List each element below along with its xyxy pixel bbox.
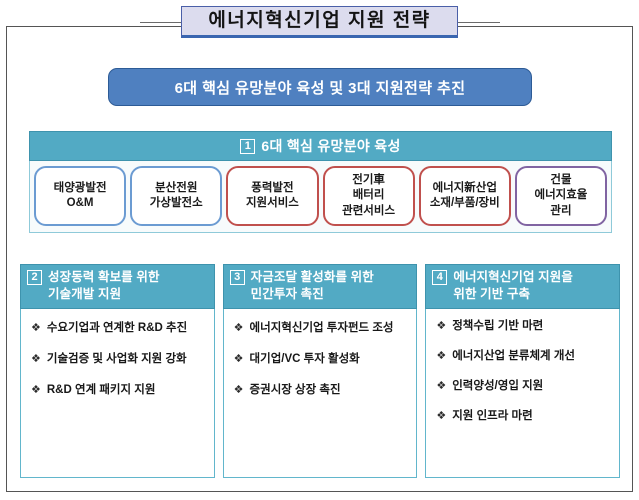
strategy3-number: 3: [230, 270, 245, 285]
field-line: 전기車: [352, 173, 385, 188]
field-line: 태양광발전: [54, 181, 107, 196]
field-card[interactable]: 에너지新산업 소재/부품/장비: [419, 166, 511, 226]
list-item[interactable]: ❖ 지원 인프라 마련: [436, 409, 611, 424]
field-line: O&M: [67, 196, 94, 211]
field-card[interactable]: 풍력발전 지원서비스: [226, 166, 318, 226]
strategy-column-2: 2 성장동력 확보를 위한기술개발 지원 ❖ 수요기업과 연계한 R&D 추진 …: [20, 264, 215, 478]
diamond-bullet-icon: ❖: [234, 384, 244, 397]
strategy4-body: ❖ 정책수립 기반 마련 ❖ 에너지산업 분류체계 개선 ❖ 인력양성/영입 지…: [425, 309, 620, 478]
list-item[interactable]: ❖ 에너지혁신기업 투자펀드 조성: [234, 321, 409, 336]
strategy4-number: 4: [432, 270, 447, 285]
field-line: 가상발전소: [150, 196, 203, 211]
diamond-bullet-icon: ❖: [436, 320, 446, 333]
field-card[interactable]: 전기車 배터리 관련서비스: [323, 166, 415, 226]
strategy3-heading: 자금조달 활성화를 위한민간투자 촉진: [251, 269, 374, 304]
list-item-label: R&D 연계 패키지 지원: [47, 383, 156, 398]
strategy2-heading: 성장동력 확보를 위한기술개발 지원: [48, 269, 160, 304]
infographic-page: 에너지혁신기업 지원 전략 6대 핵심 유망분야 육성 및 3대 지원전략 추진…: [0, 0, 639, 500]
section1-number: 1: [240, 139, 255, 154]
list-item-label: 정책수립 기반 마련: [452, 319, 543, 334]
list-item[interactable]: ❖ 정책수립 기반 마련: [436, 319, 611, 334]
section1-heading: 6대 핵심 유망분야 육성: [261, 136, 400, 156]
diamond-bullet-icon: ❖: [31, 322, 41, 335]
diamond-bullet-icon: ❖: [436, 380, 446, 393]
list-item-label: 대기업/VC 투자 활성화: [250, 352, 360, 367]
strategy-columns: 2 성장동력 확보를 위한기술개발 지원 ❖ 수요기업과 연계한 R&D 추진 …: [20, 264, 620, 478]
page-title: 에너지혁신기업 지원 전략: [208, 10, 430, 32]
strategy3-body: ❖ 에너지혁신기업 투자펀드 조성 ❖ 대기업/VC 투자 활성화 ❖ 증권시장…: [223, 309, 418, 478]
strategy3-header: 3 자금조달 활성화를 위한민간투자 촉진: [223, 264, 418, 309]
list-item-label: 지원 인프라 마련: [452, 409, 532, 424]
strategy2-body: ❖ 수요기업과 연계한 R&D 추진 ❖ 기술검증 및 사업화 지원 강화 ❖ …: [20, 309, 215, 478]
list-item-label: 수요기업과 연계한 R&D 추진: [47, 321, 187, 336]
strategy2-heading-line1: 성장동력 확보를 위한: [48, 270, 160, 284]
field-line: 에너지新산업: [433, 181, 497, 196]
diamond-bullet-icon: ❖: [31, 384, 41, 397]
list-item[interactable]: ❖ 기술검증 및 사업화 지원 강화: [31, 352, 206, 367]
section-six-fields: 1 6대 핵심 유망분야 육성 태양광발전 O&M 분산전원 가상발전소 풍력발…: [29, 131, 612, 233]
headline-label: 6대 핵심 유망분야 육성 및 3대 지원전략 추진: [175, 77, 466, 98]
diamond-bullet-icon: ❖: [436, 350, 446, 363]
headline-banner: 6대 핵심 유망분야 육성 및 3대 지원전략 추진: [108, 68, 532, 106]
list-item-label: 에너지산업 분류체계 개선: [452, 349, 575, 364]
strategy-column-4: 4 에너지혁신기업 지원을위한 기반 구축 ❖ 정책수립 기반 마련 ❖ 에너지…: [425, 264, 620, 478]
strategy3-heading-line1: 자금조달 활성화를 위한: [251, 270, 374, 284]
list-item[interactable]: ❖ 인력양성/영입 지원: [436, 379, 611, 394]
field-line: 배터리: [353, 188, 385, 203]
field-line: 관리: [550, 204, 571, 219]
strategy4-heading-line1: 에너지혁신기업 지원을: [453, 270, 573, 284]
field-line: 에너지효율: [534, 188, 587, 203]
diamond-bullet-icon: ❖: [31, 353, 41, 366]
list-item-label: 인력양성/영입 지원: [452, 379, 543, 394]
field-line: 지원서비스: [246, 196, 299, 211]
strategy2-header: 2 성장동력 확보를 위한기술개발 지원: [20, 264, 215, 309]
list-item-label: 에너지혁신기업 투자펀드 조성: [250, 321, 394, 336]
field-card[interactable]: 건물 에너지효율 관리: [515, 166, 607, 226]
list-item[interactable]: ❖ 증권시장 상장 촉진: [234, 383, 409, 398]
strategy4-heading-line2: 위한 기반 구축: [453, 287, 530, 301]
field-line: 건물: [550, 173, 571, 188]
list-item[interactable]: ❖ 수요기업과 연계한 R&D 추진: [31, 321, 206, 336]
strategy4-heading: 에너지혁신기업 지원을위한 기반 구축: [453, 269, 573, 304]
strategy2-number: 2: [27, 270, 42, 285]
strategy-column-3: 3 자금조달 활성화를 위한민간투자 촉진 ❖ 에너지혁신기업 투자펀드 조성 …: [223, 264, 418, 478]
field-card[interactable]: 분산전원 가상발전소: [130, 166, 222, 226]
field-line: 관련서비스: [342, 204, 395, 219]
field-line: 풍력발전: [251, 181, 293, 196]
list-item[interactable]: ❖ 에너지산업 분류체계 개선: [436, 349, 611, 364]
strategy3-heading-line2: 민간투자 촉진: [251, 287, 324, 301]
field-card[interactable]: 태양광발전 O&M: [34, 166, 126, 226]
list-item-label: 기술검증 및 사업화 지원 강화: [47, 352, 187, 367]
section1-header: 1 6대 핵심 유망분야 육성: [29, 131, 612, 161]
section1-body: 태양광발전 O&M 분산전원 가상발전소 풍력발전 지원서비스 전기車 배터리 …: [29, 161, 612, 233]
diamond-bullet-icon: ❖: [436, 410, 446, 423]
title-box: 에너지혁신기업 지원 전략: [181, 6, 457, 39]
diamond-bullet-icon: ❖: [234, 353, 244, 366]
list-item-label: 증권시장 상장 촉진: [250, 383, 341, 398]
diamond-bullet-icon: ❖: [234, 322, 244, 335]
strategy4-header: 4 에너지혁신기업 지원을위한 기반 구축: [425, 264, 620, 309]
strategy2-heading-line2: 기술개발 지원: [48, 287, 121, 301]
field-line: 분산전원: [155, 181, 197, 196]
list-item[interactable]: ❖ 대기업/VC 투자 활성화: [234, 352, 409, 367]
list-item[interactable]: ❖ R&D 연계 패키지 지원: [31, 383, 206, 398]
field-line: 소재/부품/장비: [430, 196, 500, 211]
